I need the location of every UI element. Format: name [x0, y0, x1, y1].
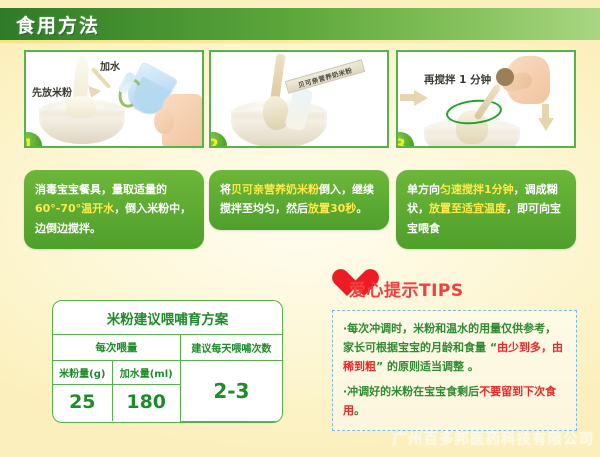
step-3: 再搅拌 1 分钟 3 单方向匀速搅拌1分钟，调成糊状，放置至适宜温度，即可向宝宝…	[396, 50, 581, 249]
step-1-label-add-water: 加水	[100, 58, 120, 73]
step-2-package-label: 贝可亲营养奶米粉	[285, 59, 365, 94]
step-1-desc-highlight-temperature: 60°-70°温开水	[35, 202, 114, 215]
tips-title: 爱心提示TIPS	[349, 276, 464, 301]
table-subheader-water: 加水量(ml)	[112, 361, 180, 385]
step-1-illustration: 先放米粉 加水 1	[24, 50, 204, 148]
step-3-illustration: 再搅拌 1 分钟 3	[396, 50, 576, 148]
step-2-illustration: 贝可亲营养奶米粉 2	[209, 50, 389, 148]
tip-2-part-3: 。	[354, 404, 365, 417]
step-3-label-stir-one-minute: 再搅拌 1 分钟	[424, 72, 491, 87]
table-title: 米粉建议喂哺育方案	[53, 301, 282, 335]
section-header-banner: 食用方法	[0, 8, 600, 40]
page-root: 食用方法	[0, 0, 600, 457]
step-2-desc-part-5: 。	[356, 202, 367, 215]
table-value-powder: 25	[53, 385, 112, 422]
step-2-desc-highlight-wait: 放置30秒	[308, 202, 356, 215]
table-right-header: 建议每天喂哺次数	[180, 335, 282, 361]
step-2: 贝可亲营养奶米粉 2 将贝可亲营养奶米粉倒入，继续搅拌至均匀，然后放置30秒。	[209, 50, 394, 230]
tip-2-part-1: ·冲调好的米粉在宝宝食剩后	[343, 385, 479, 398]
tip-item: ·冲调好的米粉在宝宝食剩后不要留到下次食用。	[343, 383, 567, 421]
thumb-grip-icon	[496, 68, 514, 86]
steps-container: 先放米粉 加水 1 消毒宝宝餐具，量取适量的60°-70°温开水，倒入米粉中，边…	[0, 50, 600, 250]
tip-1-part-3: ” 的原则适当调整 。	[376, 360, 479, 373]
stir-arrow-left-tail-icon	[400, 94, 418, 101]
feeding-plan-table: 米粉建议喂哺育方案 每次喂量 建议每天喂哺次数 米粉量(g) 加水量(ml) 2…	[52, 300, 283, 423]
table-subheader-powder: 米粉量(g)	[53, 361, 112, 385]
table-group-header: 每次喂量	[53, 335, 180, 361]
step-1-desc-part-1: 消毒宝宝餐具，量取适量的	[35, 183, 167, 196]
step-1: 先放米粉 加水 1 消毒宝宝餐具，量取适量的60°-70°温开水，倒入米粉中，边…	[24, 50, 209, 249]
table-value-times-per-day: 2-3	[180, 361, 282, 422]
step-3-desc-highlight-temperature: 放置至适宜温度	[429, 202, 506, 215]
thumb-icon	[154, 108, 174, 134]
table-value-water: 180	[112, 385, 180, 422]
step-3-description: 单方向匀速搅拌1分钟，调成糊状，放置至适宜温度，即可向宝宝喂食	[396, 170, 576, 249]
stir-arrow-right-tail-icon	[542, 104, 549, 120]
step-1-label-rice-powder: 先放米粉	[32, 84, 72, 99]
rice-powder-pile-icon	[66, 96, 96, 118]
step-2-desc-highlight-product: 贝可亲营养奶米粉	[231, 183, 319, 196]
step-3-desc-part-1: 单方向	[407, 183, 440, 196]
tip-item: ·每次冲调时，米粉和温水的用量仅供参考，家长可根据宝宝的月龄和食量 “由少到多，…	[343, 320, 567, 377]
tips-box: ·每次冲调时，米粉和温水的用量仅供参考，家长可根据宝宝的月龄和食量 “由少到多，…	[332, 310, 577, 431]
step-2-desc-part-1: 将	[220, 183, 231, 196]
step-2-description: 将贝可亲营养奶米粉倒入，继续搅拌至均匀，然后放置30秒。	[209, 170, 389, 230]
step-3-desc-highlight-stir: 匀速搅拌1分钟	[440, 183, 514, 196]
company-watermark: 广州百多邦医药科技有限公司	[393, 428, 595, 449]
step-1-description: 消毒宝宝餐具，量取适量的60°-70°温开水，倒入米粉中，边倒边搅拌。	[24, 170, 204, 249]
page-title: 食用方法	[16, 11, 100, 38]
